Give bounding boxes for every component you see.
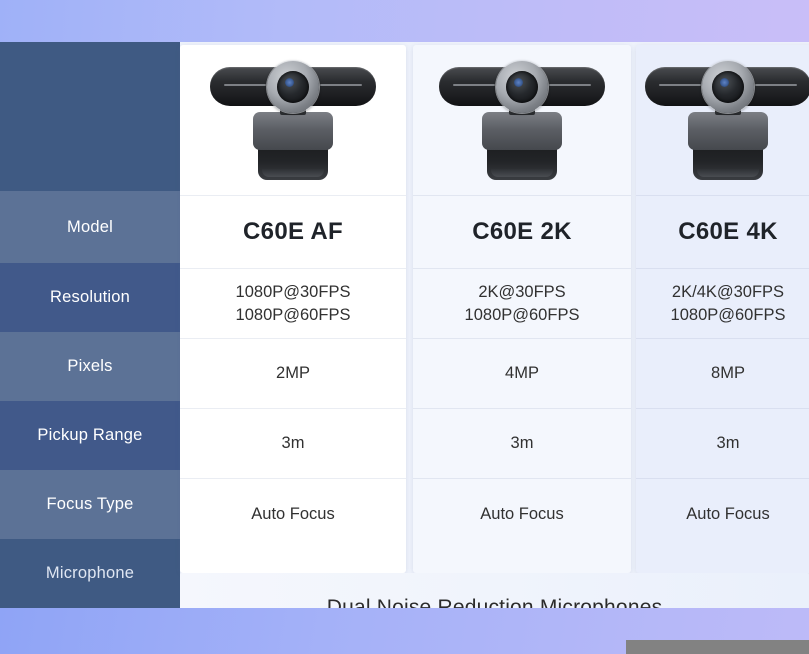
sidebar-label-focus-type: Focus Type (47, 495, 134, 514)
focus-type-value: Auto Focus (251, 505, 334, 524)
sidebar-item-model: Model (0, 191, 180, 263)
webcam-icon: EPREF REF 1Y (204, 55, 382, 185)
sidebar-label-pixels: Pixels (67, 357, 112, 376)
focus-type-value: Auto Focus (686, 505, 769, 524)
resolution-cell: 2K/4K@30FPS 1080P@60FPS (636, 268, 809, 338)
model-cell: C60E 2K (413, 195, 631, 268)
webcam-lens-glint-icon (720, 78, 729, 87)
product-image-cell: EPREF REF 1Y (413, 45, 631, 195)
product-column-c60e-4k[interactable]: EPREF REF 1Y C60E 4K 2K/4K@30FPS 1080P@6 (636, 45, 809, 573)
resolution-cell: 2K@30FPS 1080P@60FPS (413, 268, 631, 338)
focus-type-cell: Auto Focus (413, 478, 631, 549)
top-banner (0, 0, 809, 42)
pixels-cell: 4MP (413, 338, 631, 408)
webcam-body-icon (482, 112, 562, 150)
pixels-cell: 2MP (180, 338, 406, 408)
focus-type-cell: Auto Focus (180, 478, 406, 549)
resolution-line-2: 1080P@60FPS (236, 304, 351, 326)
sidebar-item-pixels: Pixels (0, 332, 180, 401)
resolution-cell: 1080P@30FPS 1080P@60FPS (180, 268, 406, 338)
resolution-line-2: 1080P@60FPS (465, 304, 580, 326)
sidebar-label-model: Model (67, 218, 113, 237)
resolution-line-1: 2K@30FPS (465, 281, 580, 303)
sidebar-item-focus-type: Focus Type (0, 470, 180, 539)
model-name: C60E 2K (472, 218, 571, 246)
page-root: Model Resolution Pixels Pickup Range Foc… (0, 0, 809, 654)
pickup-range-value: 3m (511, 434, 534, 453)
sidebar-label-microphone: Microphone (46, 564, 134, 583)
resolution-line-2: 1080P@60FPS (671, 304, 786, 326)
model-name: C60E 4K (678, 218, 777, 246)
pickup-range-cell: 3m (636, 408, 809, 478)
webcam-body-icon (688, 112, 768, 150)
focus-type-cell: Auto Focus (636, 478, 809, 549)
product-image-cell: EPREF REF 1Y (636, 45, 809, 195)
pixels-value: 8MP (711, 364, 745, 383)
webcam-body-icon (253, 112, 333, 150)
webcam-lens-glint-icon (285, 78, 294, 87)
pixels-cell: 8MP (636, 338, 809, 408)
product-column-c60e-2k[interactable]: EPREF REF 1Y C60E 2K 2K@30FPS 1080P@60FP (413, 45, 631, 573)
webcam-lens-icon (267, 61, 319, 113)
product-column-c60e-af[interactable]: EPREF REF 1Y C60E AF 1080P@30FPS 1080P@6 (180, 45, 406, 573)
pickup-range-cell: 3m (180, 408, 406, 478)
bottom-gray-bar (626, 640, 809, 654)
webcam-icon: EPREF REF 1Y (639, 55, 809, 185)
pickup-range-value: 3m (717, 434, 740, 453)
sidebar-item-resolution: Resolution (0, 263, 180, 332)
webcam-lens-icon (702, 61, 754, 113)
pixels-value: 2MP (276, 364, 310, 383)
resolution-line-1: 1080P@30FPS (236, 281, 351, 303)
spec-label-sidebar: Model Resolution Pixels Pickup Range Foc… (0, 42, 180, 608)
pickup-range-value: 3m (282, 434, 305, 453)
sidebar-top-spacer (0, 42, 180, 191)
webcam-lens-glint-icon (514, 78, 523, 87)
pixels-value: 4MP (505, 364, 539, 383)
model-cell: C60E AF (180, 195, 406, 268)
sidebar-item-microphone: Microphone (0, 539, 180, 608)
webcam-icon: EPREF REF 1Y (433, 55, 611, 185)
model-cell: C60E 4K (636, 195, 809, 268)
resolution-line-1: 2K/4K@30FPS (671, 281, 786, 303)
focus-type-value: Auto Focus (480, 505, 563, 524)
sidebar-item-pickup-range: Pickup Range (0, 401, 180, 470)
product-image-cell: EPREF REF 1Y (180, 45, 406, 195)
comparison-table: Model Resolution Pixels Pickup Range Foc… (0, 42, 809, 608)
pickup-range-cell: 3m (413, 408, 631, 478)
sidebar-label-resolution: Resolution (50, 288, 130, 307)
sidebar-label-pickup-range: Pickup Range (37, 426, 142, 445)
model-name: C60E AF (243, 218, 343, 246)
product-columns: EPREF REF 1Y C60E AF 1080P@30FPS 1080P@6 (180, 42, 809, 608)
webcam-lens-icon (496, 61, 548, 113)
